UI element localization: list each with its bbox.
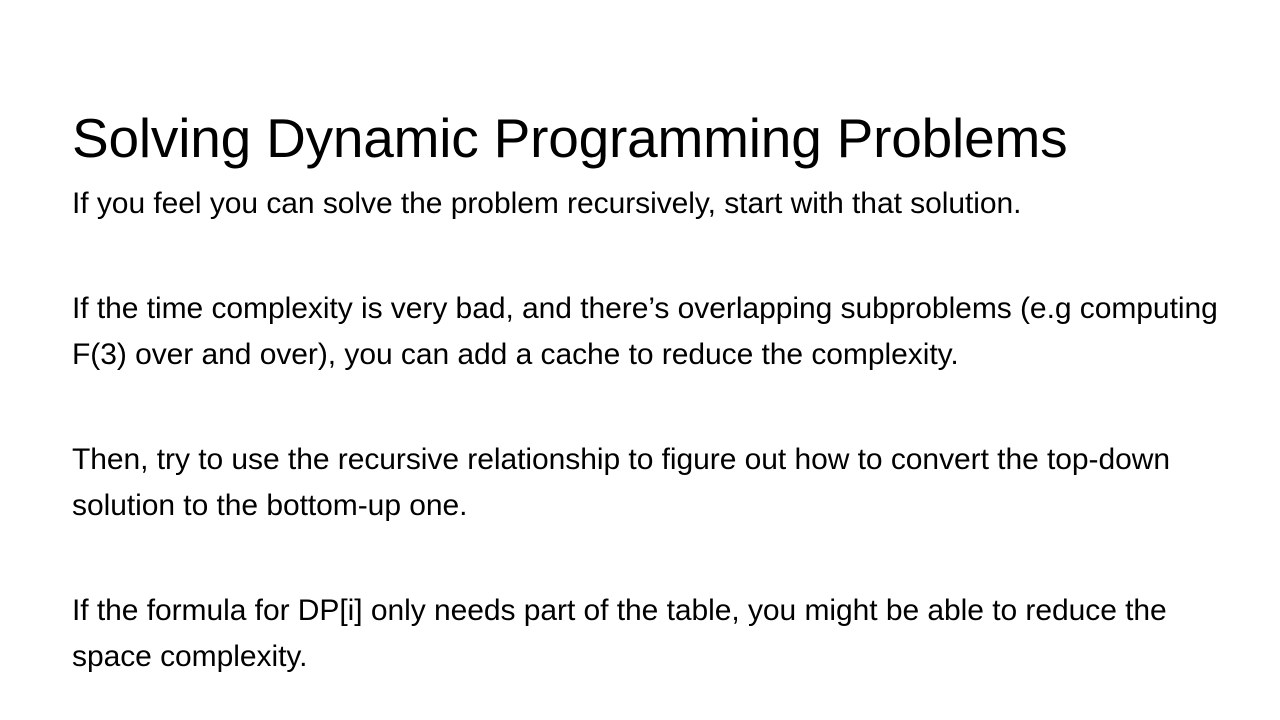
body-paragraph-add-cache: If the time complexity is very bad, and … (72, 286, 1220, 378)
page-title: Solving Dynamic Programming Problems (72, 105, 1212, 171)
paragraph-spacer (72, 227, 1250, 286)
body-paragraph-recursive-start: If you feel you can solve the problem re… (72, 181, 1250, 227)
slide-canvas: Solving Dynamic Programming Problems If … (0, 0, 1280, 720)
body-paragraph-reduce-space: If the formula for DP[i] only needs part… (72, 588, 1248, 680)
slide-body-content: If you feel you can solve the problem re… (72, 181, 1250, 680)
paragraph-spacer (72, 529, 1250, 588)
paragraph-spacer (72, 378, 1250, 437)
body-paragraph-top-down-to-bottom-up: Then, try to use the recursive relations… (72, 437, 1244, 529)
